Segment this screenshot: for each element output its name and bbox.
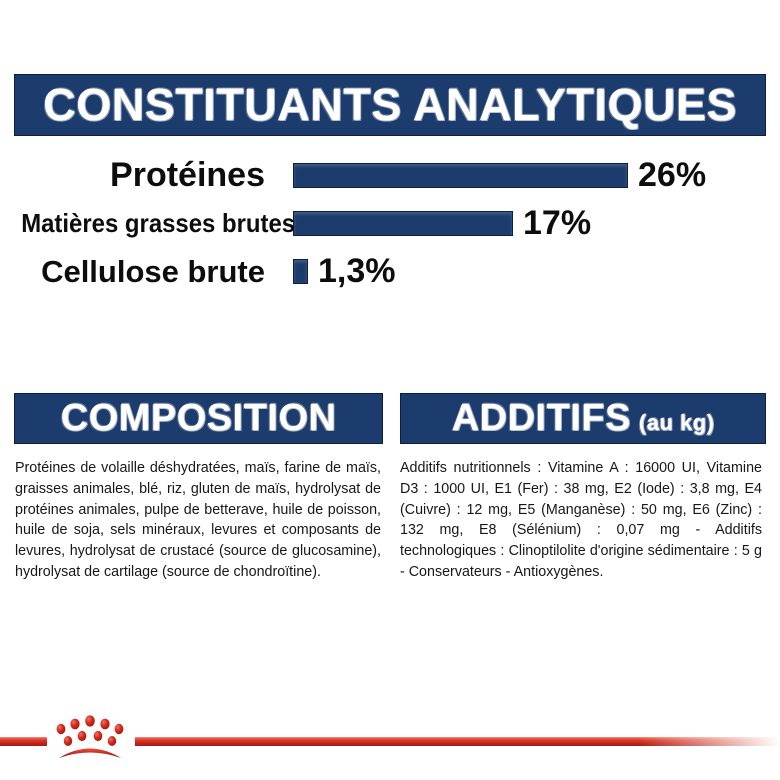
- chart-value-matieres-grasses-brutes: 17%: [523, 206, 591, 240]
- crown-dot-mid-4: [108, 736, 116, 746]
- footer-rule-left: [0, 737, 47, 746]
- chart-bar-matieres-grasses-brutes: [293, 211, 513, 236]
- nutrition-panel: CONSTITUANTS ANALYTIQUES Protéines 26% M…: [0, 0, 780, 780]
- chart-bar-group-matieres-grasses-brutes: 17%: [293, 206, 591, 240]
- chart-value-proteines: 26%: [638, 158, 706, 192]
- analytical-constituents-chart: Protéines 26% Matières grasses brutes 17…: [0, 150, 780, 300]
- crown-dot-mid-3: [94, 731, 103, 741]
- analytical-constituents-title: CONSTITUANTS ANALYTIQUES: [43, 79, 737, 131]
- composition-title: COMPOSITION: [61, 397, 337, 440]
- footer: [0, 700, 780, 780]
- chart-row-cellulose-brute: Cellulose brute 1,3%: [0, 248, 780, 294]
- chart-row-proteines: Protéines 26%: [0, 152, 780, 198]
- additifs-subtitle: (au kg): [639, 410, 715, 436]
- chart-bar-proteines: [293, 163, 628, 188]
- crown-dot-top-5: [115, 724, 124, 734]
- composition-header: COMPOSITION: [14, 393, 383, 444]
- composition-body-text: Protéines de volaille déshydratées, maïs…: [15, 458, 381, 583]
- additifs-header: ADDITIFS (au kg): [400, 393, 766, 444]
- chart-label-proteines: Protéines: [0, 158, 265, 192]
- crown-arc: [59, 749, 121, 759]
- crown-dot-top-3: [85, 715, 95, 726]
- crown-dot-top-1: [57, 724, 66, 734]
- chart-label-matieres-grasses-brutes: Matières grasses brutes: [21, 210, 265, 236]
- analytical-constituents-header: CONSTITUANTS ANALYTIQUES: [14, 74, 766, 136]
- footer-rule-fade: [135, 736, 780, 747]
- chart-bar-group-cellulose-brute: 1,3%: [293, 254, 396, 288]
- additifs-title-group: ADDITIFS (au kg): [452, 397, 715, 440]
- additifs-body-text: Additifs nutritionnels : Vitamine A : 16…: [400, 458, 762, 583]
- royal-canin-crown-logo: [0, 700, 780, 780]
- crown-dot-mid-2: [78, 731, 87, 741]
- crown-dot-top-4: [100, 719, 109, 730]
- chart-bar-group-proteines: 26%: [293, 158, 706, 192]
- crown-dot-top-2: [70, 719, 79, 730]
- chart-label-cellulose-brute: Cellulose brute: [0, 256, 265, 287]
- crown-dot-mid-1: [64, 736, 72, 746]
- chart-bar-cellulose-brute: [293, 259, 308, 284]
- chart-value-cellulose-brute: 1,3%: [318, 254, 396, 288]
- chart-row-matieres-grasses-brutes: Matières grasses brutes 17%: [0, 200, 780, 246]
- additifs-title: ADDITIFS: [452, 397, 631, 440]
